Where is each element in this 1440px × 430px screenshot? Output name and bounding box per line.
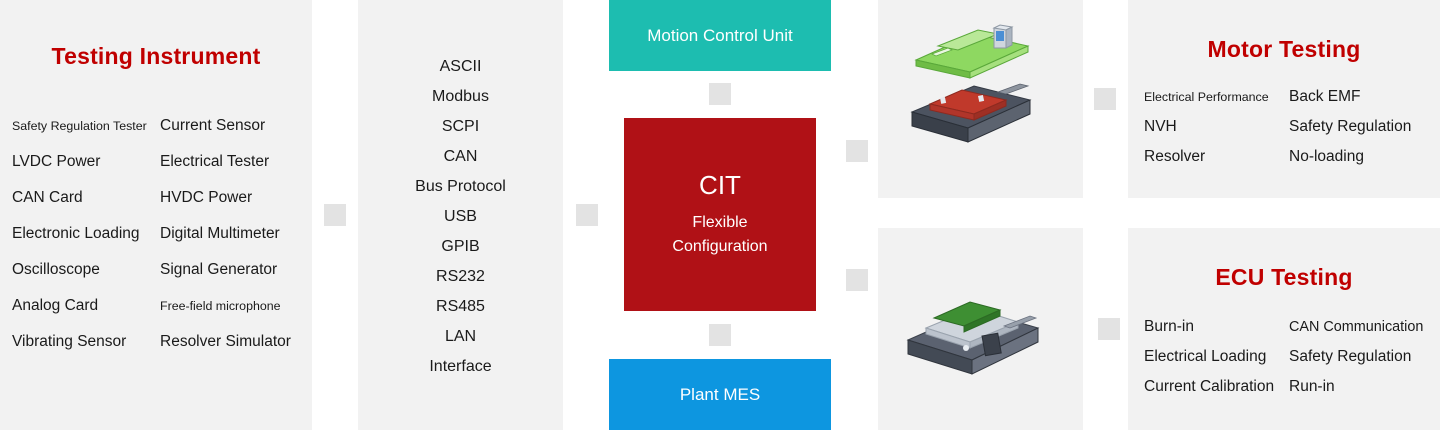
testing-instrument-columns: Safety Regulation TesterLVDC PowerCAN Ca…	[10, 108, 304, 360]
testing-instrument-right-item: Resolver Simulator	[157, 324, 304, 360]
protocol-item: GPIB	[441, 232, 479, 262]
protocol-item: LAN	[445, 322, 476, 352]
motor-testing-right-item: Back EMF	[1289, 82, 1434, 112]
motion-control-unit-box[interactable]: Motion Control Unit	[609, 0, 831, 71]
cit-box[interactable]: CIT Flexible Configuration	[624, 118, 816, 311]
motor-testing-right-column: Back EMFSafety RegulationNo-loading	[1289, 82, 1434, 172]
cit-subtitle-line1: Flexible	[692, 211, 747, 235]
testing-instrument-left-item: Oscilloscope	[10, 252, 157, 288]
ecu-testing-right-item: CAN Communication	[1289, 312, 1434, 342]
ecu-testing-left-item: Burn-in	[1144, 312, 1289, 342]
motion-control-unit-label: Motion Control Unit	[647, 26, 793, 46]
ecu-testing-left-column: Burn-inElectrical LoadingCurrent Calibra…	[1144, 312, 1289, 402]
testing-instrument-right-item: Current Sensor	[157, 108, 304, 144]
protocol-list: ASCIIModbusSCPICANBus ProtocolUSBGPIBRS2…	[358, 52, 563, 382]
protocol-item: Interface	[429, 352, 491, 382]
motor-testing-left-item: Electrical Performance	[1144, 82, 1289, 112]
panel-testing-instrument: Testing Instrument Safety Regulation Tes…	[0, 0, 312, 430]
connector-ecu-image-to-ecu-testing	[1098, 318, 1120, 340]
testing-instrument-left-item: Electronic Loading	[10, 216, 157, 252]
connector-cit-to-ecu-image	[846, 269, 868, 291]
panel-ecu-testing: ECU Testing Burn-inElectrical LoadingCur…	[1128, 228, 1440, 430]
motor-testing-left-item: Resolver	[1144, 142, 1289, 172]
connector-cit-to-motor-image	[846, 140, 868, 162]
ecu-testing-right-item: Run-in	[1289, 372, 1434, 402]
connector-protocol-to-cit	[576, 204, 598, 226]
motor-testing-left-column: Electrical PerformanceNVHResolver	[1144, 82, 1289, 172]
testing-instrument-right-item: Digital Multimeter	[157, 216, 304, 252]
connector-cit-to-motion-control	[709, 83, 731, 105]
diagram-canvas: Testing Instrument Safety Regulation Tes…	[0, 0, 1440, 430]
panel-title-testing-instrument: Testing Instrument	[0, 43, 312, 70]
testing-instrument-right-item: Free-field microphone	[157, 288, 304, 324]
ecu-testing-columns: Burn-inElectrical LoadingCurrent Calibra…	[1144, 312, 1434, 402]
protocol-item: ASCII	[440, 52, 482, 82]
testing-instrument-left-item: CAN Card	[10, 180, 157, 216]
panel-protocols: ASCIIModbusSCPICANBus ProtocolUSBGPIBRS2…	[358, 0, 563, 430]
plant-mes-box[interactable]: Plant MES	[609, 359, 831, 430]
ecu-testing-left-item: Electrical Loading	[1144, 342, 1289, 372]
panel-ecu-equipment-image	[878, 228, 1083, 430]
protocol-item: CAN	[444, 142, 478, 172]
ecu-testing-left-item: Current Calibration	[1144, 372, 1289, 402]
panel-title-motor-testing: Motor Testing	[1128, 36, 1440, 63]
testing-instrument-left-item: Analog Card	[10, 288, 157, 324]
ecu-test-bench-illustration	[878, 228, 1083, 430]
testing-instrument-left-item: Vibrating Sensor	[10, 324, 157, 360]
protocol-item: SCPI	[442, 112, 479, 142]
protocol-item: Modbus	[432, 82, 489, 112]
panel-motor-testing: Motor Testing Electrical PerformanceNVHR…	[1128, 0, 1440, 198]
protocol-item: RS232	[436, 262, 485, 292]
testing-instrument-left-item: LVDC Power	[10, 144, 157, 180]
connector-instrument-to-protocol	[324, 204, 346, 226]
testing-instrument-right-item: HVDC Power	[157, 180, 304, 216]
panel-title-ecu-testing: ECU Testing	[1128, 264, 1440, 291]
protocol-item: RS485	[436, 292, 485, 322]
panel-motor-equipment-image	[878, 0, 1083, 198]
motor-testing-columns: Electrical PerformanceNVHResolver Back E…	[1144, 82, 1434, 172]
motor-test-bench-illustration	[878, 0, 1083, 198]
testing-instrument-right-item: Signal Generator	[157, 252, 304, 288]
connector-motor-image-to-motor-testing	[1094, 88, 1116, 110]
connector-cit-to-plant-mes	[709, 324, 731, 346]
motor-testing-right-item: No-loading	[1289, 142, 1434, 172]
protocol-item: Bus Protocol	[415, 172, 506, 202]
testing-instrument-right-item: Electrical Tester	[157, 144, 304, 180]
cit-subtitle-line2: Configuration	[672, 235, 767, 259]
motor-testing-left-item: NVH	[1144, 112, 1289, 142]
motor-testing-right-item: Safety Regulation	[1289, 112, 1434, 142]
plant-mes-label: Plant MES	[680, 385, 760, 405]
testing-instrument-left-column: Safety Regulation TesterLVDC PowerCAN Ca…	[10, 108, 157, 360]
cit-title: CIT	[699, 170, 741, 201]
protocol-item: USB	[444, 202, 477, 232]
ecu-testing-right-item: Safety Regulation	[1289, 342, 1434, 372]
ecu-testing-right-column: CAN CommunicationSafety RegulationRun-in	[1289, 312, 1434, 402]
testing-instrument-right-column: Current SensorElectrical TesterHVDC Powe…	[157, 108, 304, 360]
testing-instrument-left-item: Safety Regulation Tester	[10, 108, 157, 144]
